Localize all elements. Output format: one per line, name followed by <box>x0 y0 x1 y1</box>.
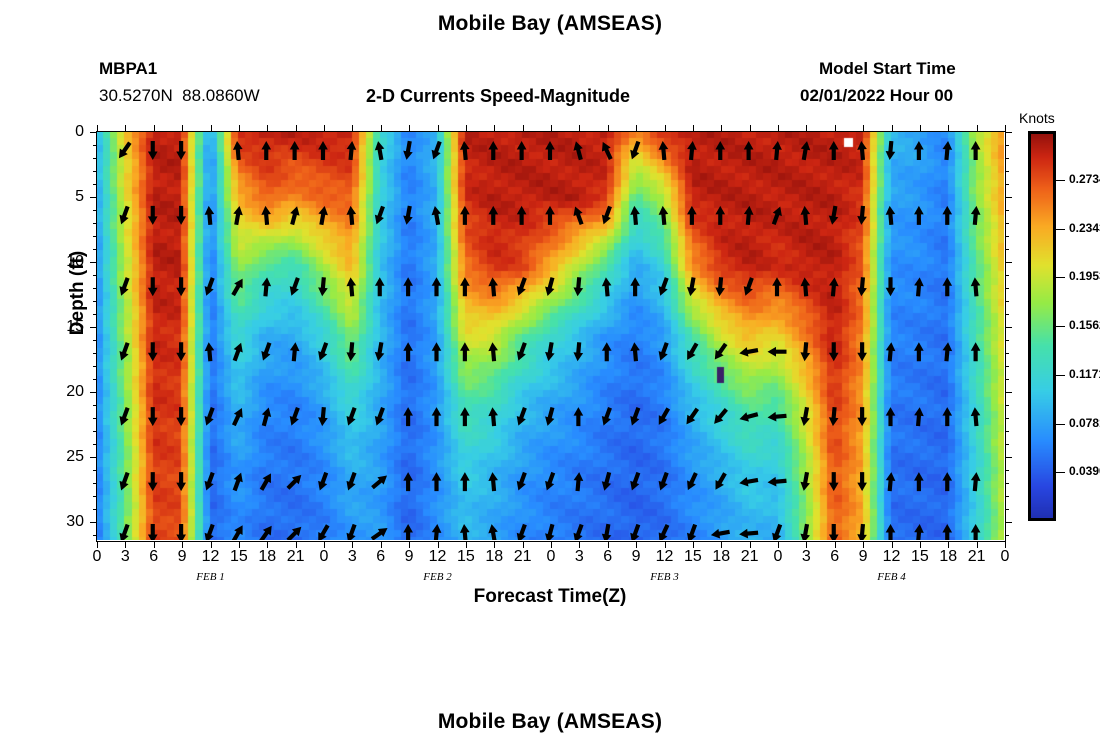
current-vector-arrow <box>914 524 924 540</box>
current-vector-arrow <box>403 277 413 296</box>
current-vector-arrow <box>602 524 612 540</box>
colorbar-tick <box>1056 277 1065 278</box>
current-vector-arrow <box>829 141 839 160</box>
x-axis-tick <box>352 541 353 548</box>
current-vector-arrow <box>630 277 640 296</box>
current-vector-arrow <box>602 342 612 361</box>
y-axis-minor-tick-right <box>1005 353 1009 354</box>
current-vector-arrow <box>739 477 758 487</box>
x-axis-tick <box>466 541 467 548</box>
current-vector-arrow <box>205 407 215 426</box>
x-axis-tick-label: 0 <box>765 548 791 566</box>
current-vector-arrow <box>488 342 498 361</box>
current-vector-arrow <box>602 472 611 491</box>
current-vector-arrow <box>772 206 782 225</box>
y-axis-minor-tick-right <box>1005 483 1009 484</box>
current-vector-arrow <box>545 342 555 361</box>
current-vector-arrow <box>432 141 442 160</box>
y-axis-tick-label: 20 <box>44 383 84 401</box>
y-axis-minor-tick-right <box>1005 314 1009 315</box>
x-axis-tick-label: 12 <box>425 548 451 566</box>
current-vector-arrow <box>545 206 555 225</box>
current-vector-arrow <box>318 472 328 491</box>
current-vector-arrow <box>517 472 527 491</box>
current-vector-arrow <box>432 342 442 361</box>
y-axis-minor-tick-right <box>1005 444 1009 445</box>
x-axis-tick-label: 18 <box>935 548 961 566</box>
y-axis-tick-label: 15 <box>44 318 84 336</box>
current-vector-arrow <box>659 524 670 540</box>
current-vector-arrow <box>886 407 896 426</box>
current-vector-arrow <box>739 529 758 539</box>
y-axis-tick-right <box>1005 132 1012 133</box>
x-axis-tick <box>409 541 410 548</box>
current-vector-arrow <box>346 407 356 426</box>
current-vector-arrow <box>971 342 981 361</box>
current-vector-arrow <box>318 407 328 426</box>
x-axis-tick <box>182 541 183 548</box>
x-axis-tick <box>778 541 779 548</box>
current-vector-arrow <box>176 524 186 540</box>
current-vector-arrow <box>768 412 787 422</box>
current-vector-arrow <box>739 412 758 421</box>
current-vector-arrow <box>488 524 498 540</box>
current-vector-arrow <box>971 472 981 491</box>
current-vector-arrow <box>318 141 328 160</box>
current-vector-arrow <box>715 141 725 160</box>
current-vector-arrow <box>714 408 728 424</box>
x-axis-tick <box>125 541 126 548</box>
current-vector-arrow <box>119 407 129 426</box>
current-vector-arrow <box>857 472 867 491</box>
current-vector-arrow <box>573 342 583 361</box>
x-axis-tick-label: 0 <box>84 548 110 566</box>
current-vector-arrow <box>829 206 839 225</box>
x-axis-day-label: FEB 2 <box>403 571 473 583</box>
y-axis-minor-tick-right <box>1005 535 1009 536</box>
current-vector-arrow <box>829 472 839 491</box>
current-vector-arrow <box>800 277 810 296</box>
current-vector-arrow <box>460 342 470 361</box>
colorbar-tick <box>1056 375 1065 376</box>
y-axis-minor-tick-right <box>1005 379 1009 380</box>
current-vector-arrow <box>716 472 727 490</box>
current-vector-arrow <box>232 408 243 426</box>
current-vector-arrow <box>942 524 952 540</box>
current-vector-arrow <box>744 141 754 160</box>
current-vector-arrow <box>630 342 640 361</box>
colorbar-tick <box>1056 424 1065 425</box>
current-vector-arrow <box>886 141 896 160</box>
page-footer-title: Mobile Bay (AMSEAS) <box>0 710 1100 734</box>
x-axis-tick <box>665 541 666 548</box>
current-vector-arrow <box>261 342 271 361</box>
current-vector-arrow <box>460 472 470 491</box>
current-vector-arrow <box>517 524 527 540</box>
current-vector-arrow <box>148 342 158 361</box>
current-vector-arrow <box>233 473 243 492</box>
x-axis-tick <box>806 541 807 548</box>
current-vector-arrow <box>886 206 896 225</box>
x-axis-tick <box>636 541 637 548</box>
y-axis-tick-right <box>1005 522 1012 523</box>
current-vector-arrow <box>971 206 981 225</box>
current-vector-arrow <box>259 526 272 540</box>
x-axis-tick <box>523 541 524 548</box>
current-vector-arrow <box>432 472 442 491</box>
colorbar-title: Knots <box>1019 110 1055 126</box>
colorbar-tick-label: 0.19531 <box>1069 269 1100 283</box>
current-vector-arrow <box>346 277 356 296</box>
current-vector-arrow <box>857 277 867 296</box>
x-axis-tick <box>381 541 382 548</box>
current-vector-arrow <box>403 141 413 160</box>
current-vector-arrow <box>545 472 555 491</box>
current-vector-arrow <box>711 529 730 539</box>
current-vector-arrow <box>772 141 782 160</box>
current-vector-arrow <box>318 342 328 361</box>
current-vector-arrow <box>914 342 924 361</box>
current-vector-arrow <box>119 142 132 159</box>
current-vector-arrow <box>545 141 555 160</box>
current-vector-arrow <box>715 277 725 296</box>
current-vector-arrow <box>432 277 442 296</box>
current-vector-arrow <box>176 206 186 225</box>
current-vector-arrow <box>914 206 924 225</box>
x-axis-tick-label: 6 <box>141 548 167 566</box>
x-axis-tick-top <box>1005 125 1006 132</box>
current-vector-arrow <box>573 277 583 296</box>
x-axis-tick-label: 0 <box>538 548 564 566</box>
current-vector-arrow <box>119 206 129 225</box>
y-axis-tick-label: 10 <box>44 253 84 271</box>
colorbar <box>1028 131 1056 521</box>
current-vector-arrow <box>687 342 698 360</box>
current-vector-arrow <box>857 524 867 540</box>
model-start-time-value: 02/01/2022 Hour 00 <box>800 86 953 106</box>
current-vector-arrow <box>857 342 867 361</box>
current-vector-arrow <box>630 524 640 540</box>
x-axis-tick <box>948 541 949 548</box>
x-axis-tick-label: 18 <box>254 548 280 566</box>
current-vector-arrow <box>205 342 215 361</box>
current-vector-arrow <box>432 524 442 540</box>
current-vector-arrow <box>432 206 442 225</box>
y-axis-tick-right <box>1005 197 1012 198</box>
x-axis-day-label: FEB 3 <box>630 571 700 583</box>
current-vector-arrow <box>659 407 670 425</box>
current-vector-arrow <box>857 407 867 426</box>
colorbar-tick <box>1056 326 1065 327</box>
current-vector-arrow <box>744 206 754 225</box>
current-vector-arrow <box>801 141 811 160</box>
x-axis-tick-label: 21 <box>964 548 990 566</box>
current-vector-arrow <box>687 472 698 490</box>
current-vector-arrow <box>744 277 754 296</box>
current-vector-arrow <box>574 472 584 491</box>
current-vector-arrow <box>517 407 527 426</box>
current-vector-arrow <box>829 342 839 361</box>
current-vector-arrow <box>205 472 215 491</box>
page-title: Mobile Bay (AMSEAS) <box>0 12 1100 36</box>
x-axis-tick <box>835 541 836 548</box>
y-axis-minor-tick-right <box>1005 158 1009 159</box>
x-axis-tick-label: 9 <box>850 548 876 566</box>
y-axis-minor-tick-right <box>1005 366 1009 367</box>
current-vector-arrow <box>290 277 300 296</box>
chart-subtitle: 2-D Currents Speed-Magnitude <box>366 86 630 107</box>
current-vector-arrow <box>262 407 271 426</box>
x-axis-tick <box>608 541 609 548</box>
y-axis-tick-right <box>1005 262 1012 263</box>
x-axis-tick-label: 12 <box>198 548 224 566</box>
current-vector-arrow <box>371 528 388 540</box>
current-vector-arrow <box>205 206 215 225</box>
x-axis-tick-label: 12 <box>879 548 905 566</box>
current-vector-arrow <box>375 206 385 225</box>
station-id-label: MBPA1 <box>99 59 157 79</box>
current-vector-arrow <box>886 277 896 296</box>
current-vector-arrow <box>205 277 215 296</box>
current-vector-arrow <box>375 407 385 426</box>
chart-page: Mobile Bay (AMSEAS) MBPA1 30.5270N 88.08… <box>0 0 1100 750</box>
x-axis-tick-label: 21 <box>283 548 309 566</box>
current-vector-arrow <box>261 141 271 160</box>
x-axis-tick-label: 9 <box>396 548 422 566</box>
y-axis-minor-tick-right <box>1005 509 1009 510</box>
y-axis-tick-label: 25 <box>44 448 84 466</box>
current-vector-arrow <box>347 141 357 160</box>
x-axis-tick-label: 6 <box>822 548 848 566</box>
x-axis-tick <box>920 541 921 548</box>
current-vector-arrow <box>687 277 697 296</box>
current-vector-arrow <box>517 141 527 160</box>
y-axis-minor-tick-right <box>1005 210 1009 211</box>
colorbar-gradient <box>1031 134 1053 518</box>
current-vector-arrow <box>346 342 356 361</box>
y-axis-minor-tick-right <box>1005 470 1009 471</box>
current-vector-arrow <box>318 524 329 540</box>
plot-area <box>96 131 1004 540</box>
current-vector-arrow <box>715 343 728 360</box>
current-vector-arrow <box>573 206 583 225</box>
current-vector-arrow <box>176 141 186 160</box>
current-vector-arrow <box>686 408 699 425</box>
current-vector-arrow <box>119 524 129 540</box>
current-vector-arrow <box>290 342 300 361</box>
current-vector-arrow <box>346 206 356 225</box>
x-axis-tick-label: 3 <box>339 548 365 566</box>
current-vector-arrow <box>460 206 470 225</box>
y-axis-minor-tick-right <box>1005 223 1009 224</box>
current-vector-arrow <box>659 472 669 491</box>
y-axis-tick-label: 5 <box>44 188 84 206</box>
x-axis-tick-label: 6 <box>595 548 621 566</box>
colorbar-tick <box>1056 229 1065 230</box>
y-axis-tick-right <box>1005 327 1012 328</box>
x-axis-tick-label: 9 <box>169 548 195 566</box>
current-vector-arrow <box>517 277 527 296</box>
current-vector-arrow <box>602 142 613 160</box>
x-axis-tick <box>438 541 439 548</box>
x-axis-tick <box>892 541 893 548</box>
x-axis-tick <box>239 541 240 548</box>
current-vector-arrow <box>914 141 924 160</box>
current-vector-arrow <box>286 527 301 540</box>
y-axis-title: Depth (ft) <box>67 208 89 378</box>
x-axis-tick-label: 0 <box>311 548 337 566</box>
x-axis-tick <box>324 541 325 548</box>
y-axis-tick-right <box>1005 457 1012 458</box>
x-axis-tick <box>579 541 580 548</box>
current-vector-arrow <box>233 141 243 160</box>
x-axis-tick-label: 0 <box>992 548 1018 566</box>
current-vector-arrow <box>262 277 272 296</box>
y-axis-minor-tick-right <box>1005 236 1009 237</box>
x-axis-tick-label: 15 <box>453 548 479 566</box>
current-vector-arrow <box>119 342 129 361</box>
current-vector-arrow <box>886 342 896 361</box>
current-vector-arrow <box>488 141 498 160</box>
current-vector-arrow <box>233 206 243 225</box>
current-vector-arrow <box>176 342 186 361</box>
current-vector-arrow <box>119 472 129 491</box>
current-vector-arrow <box>573 524 583 540</box>
current-vector-arrow <box>403 524 413 540</box>
current-vector-arrow <box>829 524 839 540</box>
current-vector-arrow <box>971 277 981 296</box>
y-axis-tick-label: 30 <box>44 513 84 531</box>
x-axis-day-label: FEB 4 <box>857 571 927 583</box>
current-vector-arrow <box>488 206 498 225</box>
colorbar-tick-label: 0.11718 <box>1069 367 1100 381</box>
current-vector-arrow <box>488 472 498 491</box>
y-axis-tick-right <box>1005 392 1012 393</box>
current-vector-arrow <box>943 141 953 160</box>
x-axis-tick-label: 12 <box>652 548 678 566</box>
x-axis-tick-label: 18 <box>481 548 507 566</box>
current-vector-arrow <box>460 524 470 540</box>
current-vector-arrow <box>943 342 953 361</box>
current-vector-arrow <box>971 141 981 160</box>
x-axis-tick <box>267 541 268 548</box>
x-axis-tick-label: 3 <box>793 548 819 566</box>
current-vector-arrow <box>119 277 129 296</box>
y-axis-minor-tick-right <box>1005 301 1009 302</box>
current-vector-arrow <box>205 524 215 540</box>
current-vector-arrow <box>375 277 385 296</box>
current-vector-arrow <box>346 472 356 491</box>
current-vector-arrow <box>886 472 896 491</box>
x-axis-tick <box>693 541 694 548</box>
y-axis-minor-tick-right <box>1005 418 1009 419</box>
current-vector-arrow <box>545 524 554 540</box>
y-axis-minor-tick-right <box>1005 249 1009 250</box>
x-axis-tick <box>211 541 212 548</box>
x-axis-tick <box>1005 541 1006 548</box>
current-vector-arrow <box>829 407 839 426</box>
current-vector-arrow <box>886 524 896 540</box>
y-axis-minor-tick-right <box>1005 405 1009 406</box>
current-vector-arrow <box>659 206 669 225</box>
current-vector-arrow <box>148 407 158 426</box>
x-axis-title: Forecast Time(Z) <box>0 586 1100 608</box>
current-vector-arrow <box>630 407 640 426</box>
colorbar-tick <box>1056 180 1065 181</box>
x-axis-tick-label: 21 <box>737 548 763 566</box>
x-axis-tick-label: 3 <box>566 548 592 566</box>
current-vector-arrow <box>176 277 186 296</box>
current-vector-arrow <box>460 407 470 426</box>
current-vector-arrow <box>231 525 242 540</box>
current-vector-arrow <box>574 407 584 426</box>
y-axis-minor-tick-right <box>1005 275 1009 276</box>
current-vector-arrow <box>573 141 582 160</box>
y-axis-minor-tick-right <box>1005 171 1009 172</box>
x-axis-tick <box>97 541 98 548</box>
y-axis-minor-tick-right <box>1005 340 1009 341</box>
current-vector-arrow <box>942 407 952 426</box>
current-vector-arrow <box>800 524 810 540</box>
y-axis-minor-tick-right <box>1005 496 1009 497</box>
current-vector-arrow <box>800 206 810 225</box>
current-vector-arrow <box>403 407 413 426</box>
current-vector-arrow <box>768 477 787 487</box>
y-axis-minor-tick-right <box>1005 431 1009 432</box>
current-vector-arrow <box>517 206 527 225</box>
x-axis-tick <box>977 541 978 548</box>
current-vector-arrow <box>286 475 301 490</box>
current-vector-arrow <box>290 407 300 426</box>
current-vector-arrow <box>857 206 867 225</box>
current-vector-arrow <box>687 141 697 160</box>
colorbar-tick-label: 0.23437 <box>1069 221 1100 235</box>
x-axis-tick-label: 21 <box>510 548 536 566</box>
current-vector-arrow <box>659 342 669 361</box>
station-coordinates-label: 30.5270N 88.0860W <box>99 86 260 106</box>
current-vector-arrow <box>148 277 158 296</box>
current-vector-arrow <box>942 472 952 491</box>
x-axis-tick <box>721 541 722 548</box>
current-vector-arrow <box>942 206 952 225</box>
current-vector-arrow <box>602 407 612 426</box>
current-vector-arrow <box>857 141 867 160</box>
current-vector-arrow <box>800 407 810 426</box>
current-vector-arrow <box>290 206 299 225</box>
current-vector-arrow <box>318 277 328 296</box>
current-vector-arrow <box>176 472 186 491</box>
current-vector-arrow <box>432 407 442 426</box>
x-axis-tick-label: 3 <box>112 548 138 566</box>
x-axis-tick <box>863 541 864 548</box>
y-axis-minor-tick-right <box>1005 288 1009 289</box>
current-vector-arrow <box>971 407 981 426</box>
x-axis-tick-label: 15 <box>907 548 933 566</box>
current-vector-arrow <box>403 472 413 491</box>
current-vector-arrow <box>630 206 640 225</box>
current-vector-arrow <box>659 141 669 160</box>
current-vector-arrow <box>176 407 186 426</box>
current-vector-arrow <box>768 347 787 357</box>
x-axis-tick-label: 9 <box>623 548 649 566</box>
colorbar-tick-label: 0.039062 <box>1069 464 1100 478</box>
colorbar-tick-label: 0.078125 <box>1069 416 1100 430</box>
current-vector-arrow <box>290 141 300 160</box>
x-axis-tick-label: 15 <box>226 548 252 566</box>
y-axis-tick-label: 0 <box>44 123 84 141</box>
current-vector-arrow <box>739 347 758 357</box>
current-vector-arrow <box>687 206 697 225</box>
